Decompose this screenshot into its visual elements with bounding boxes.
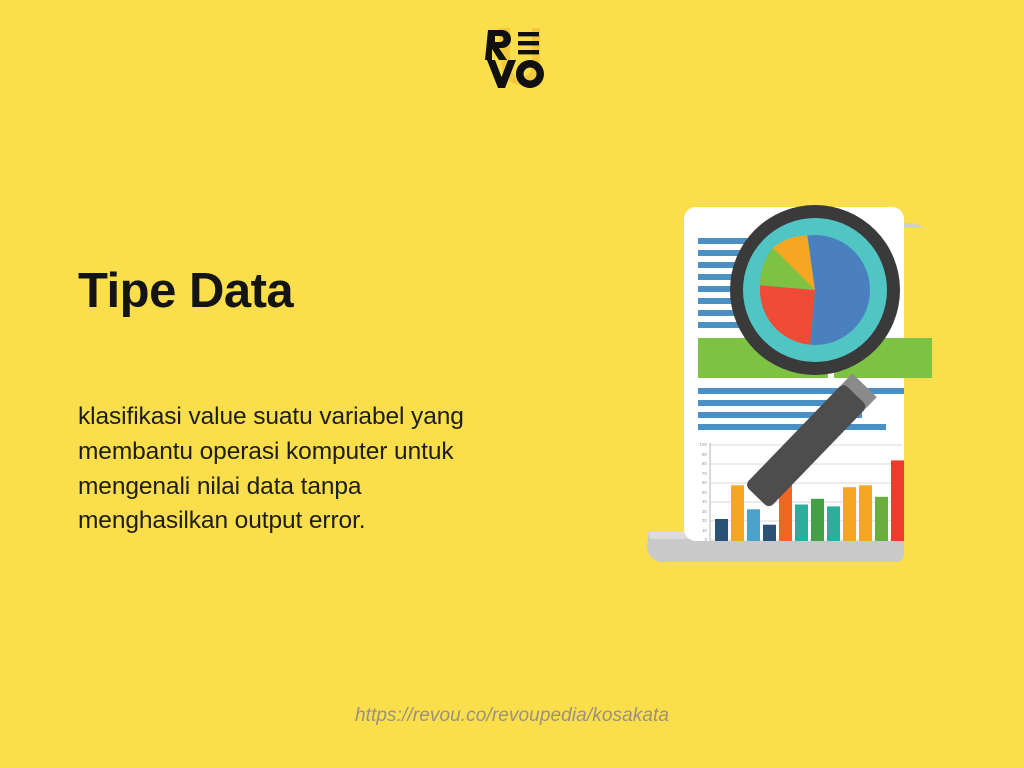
footer-url[interactable]: https://revou.co/revoupedia/kosakata <box>0 705 1024 727</box>
body-line-2: membantu operasi komputer untuk <box>78 435 578 470</box>
bar-3 <box>747 509 760 541</box>
svg-text:100: 100 <box>699 442 707 447</box>
svg-text:90: 90 <box>702 452 708 457</box>
svg-text:80: 80 <box>702 461 708 466</box>
bar-2 <box>731 485 744 541</box>
bar-6 <box>795 505 808 542</box>
bar-12 <box>891 460 904 541</box>
svg-text:10: 10 <box>702 528 708 533</box>
bar-4 <box>763 525 776 541</box>
svg-text:70: 70 <box>702 471 708 476</box>
bar-8 <box>827 506 840 541</box>
logo-letter-e <box>518 32 539 54</box>
body-line-4: menghasilkan output error. <box>78 504 578 539</box>
body-line-3: mengenali nilai data tanpa <box>78 470 578 505</box>
svg-text:40: 40 <box>702 499 708 504</box>
bar-11 <box>875 497 888 541</box>
slide-canvas: Tipe Data klasifikasi value suatu variab… <box>0 0 1024 768</box>
body-paragraph: klasifikasi value suatu variabel yang me… <box>78 400 578 539</box>
illustration-document-with-magnifier: 100 90 80 70 60 50 40 30 20 10 0 <box>640 195 1024 585</box>
svg-text:0: 0 <box>704 537 707 542</box>
svg-text:20: 20 <box>702 518 708 523</box>
bar-1 <box>715 519 728 541</box>
svg-text:50: 50 <box>702 490 708 495</box>
svg-text:60: 60 <box>702 480 708 485</box>
svg-text:30: 30 <box>702 509 708 514</box>
body-line-1: klasifikasi value suatu variabel yang <box>78 400 578 435</box>
magnified-pie-chart <box>760 235 870 345</box>
bar-10 <box>859 485 872 541</box>
revou-logo <box>478 22 548 92</box>
bar-7 <box>811 499 824 541</box>
page-title: Tipe Data <box>78 266 293 317</box>
bar-9 <box>843 487 856 541</box>
